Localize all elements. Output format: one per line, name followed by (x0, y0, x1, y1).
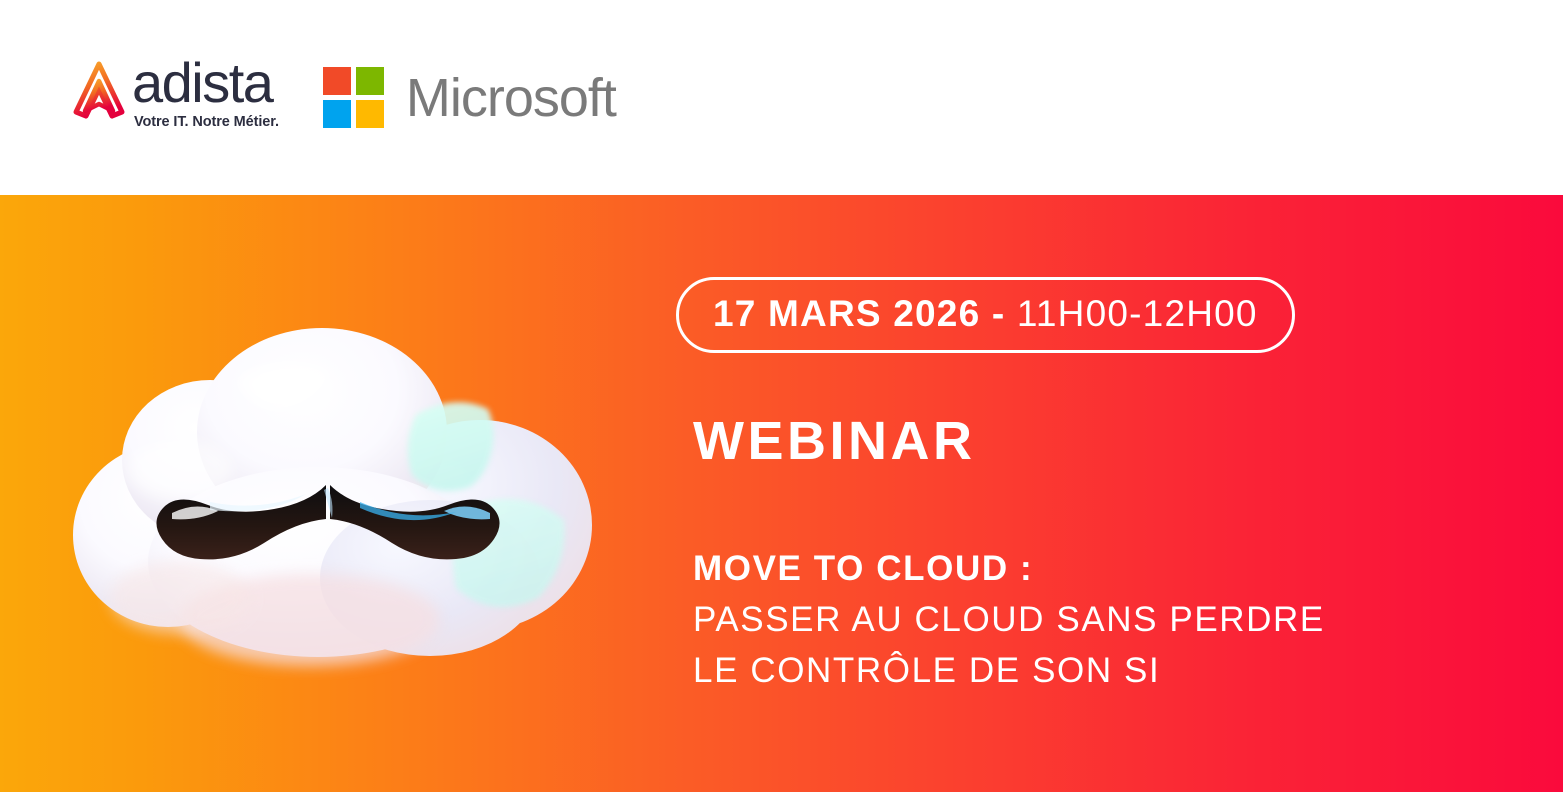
title-subtitle-line-2: LE CONTRÔLE DE SON SI (693, 646, 1496, 697)
adista-wordmark: adista (132, 57, 279, 109)
microsoft-wordmark: Microsoft (406, 71, 616, 125)
title-block: MOVE TO CLOUD : PASSER AU CLOUD SANS PER… (693, 544, 1496, 696)
microsoft-square-bottom-right (356, 100, 384, 128)
date-time-separator: - (980, 293, 1016, 334)
gradient-stage: 17 MARS 2026 - 11H00-12H00 WEBINAR MOVE … (0, 195, 1563, 792)
adista-triangle-a-mark-icon (72, 59, 126, 121)
microsoft-square-bottom-left (323, 100, 351, 128)
webinar-banner: adista Votre IT. Notre Métier. Microsoft (0, 0, 1563, 792)
microsoft-logo: Microsoft (323, 63, 616, 133)
content-column: 17 MARS 2026 - 11H00-12H00 WEBINAR MOVE … (676, 277, 1496, 696)
adista-tagline: Votre IT. Notre Métier. (134, 114, 279, 130)
adista-logo: adista Votre IT. Notre Métier. (72, 55, 279, 141)
title-subtitle-line-1: PASSER AU CLOUD SANS PERDRE (693, 595, 1496, 646)
microsoft-square-top-right (356, 67, 384, 95)
microsoft-square-top-left (323, 67, 351, 95)
cloud-with-mustache-illustration (60, 320, 605, 680)
event-time: 11H00-12H00 (1017, 293, 1258, 334)
logo-header: adista Votre IT. Notre Métier. Microsoft (0, 0, 1563, 195)
eyebrow-webinar: WEBINAR (693, 414, 1496, 468)
title-main: MOVE TO CLOUD : (693, 544, 1496, 595)
date-time-pill: 17 MARS 2026 - 11H00-12H00 (676, 277, 1295, 353)
adista-text-group: adista Votre IT. Notre Métier. (132, 55, 279, 131)
event-date: 17 MARS 2026 (713, 293, 980, 334)
microsoft-four-squares-icon (323, 67, 384, 128)
